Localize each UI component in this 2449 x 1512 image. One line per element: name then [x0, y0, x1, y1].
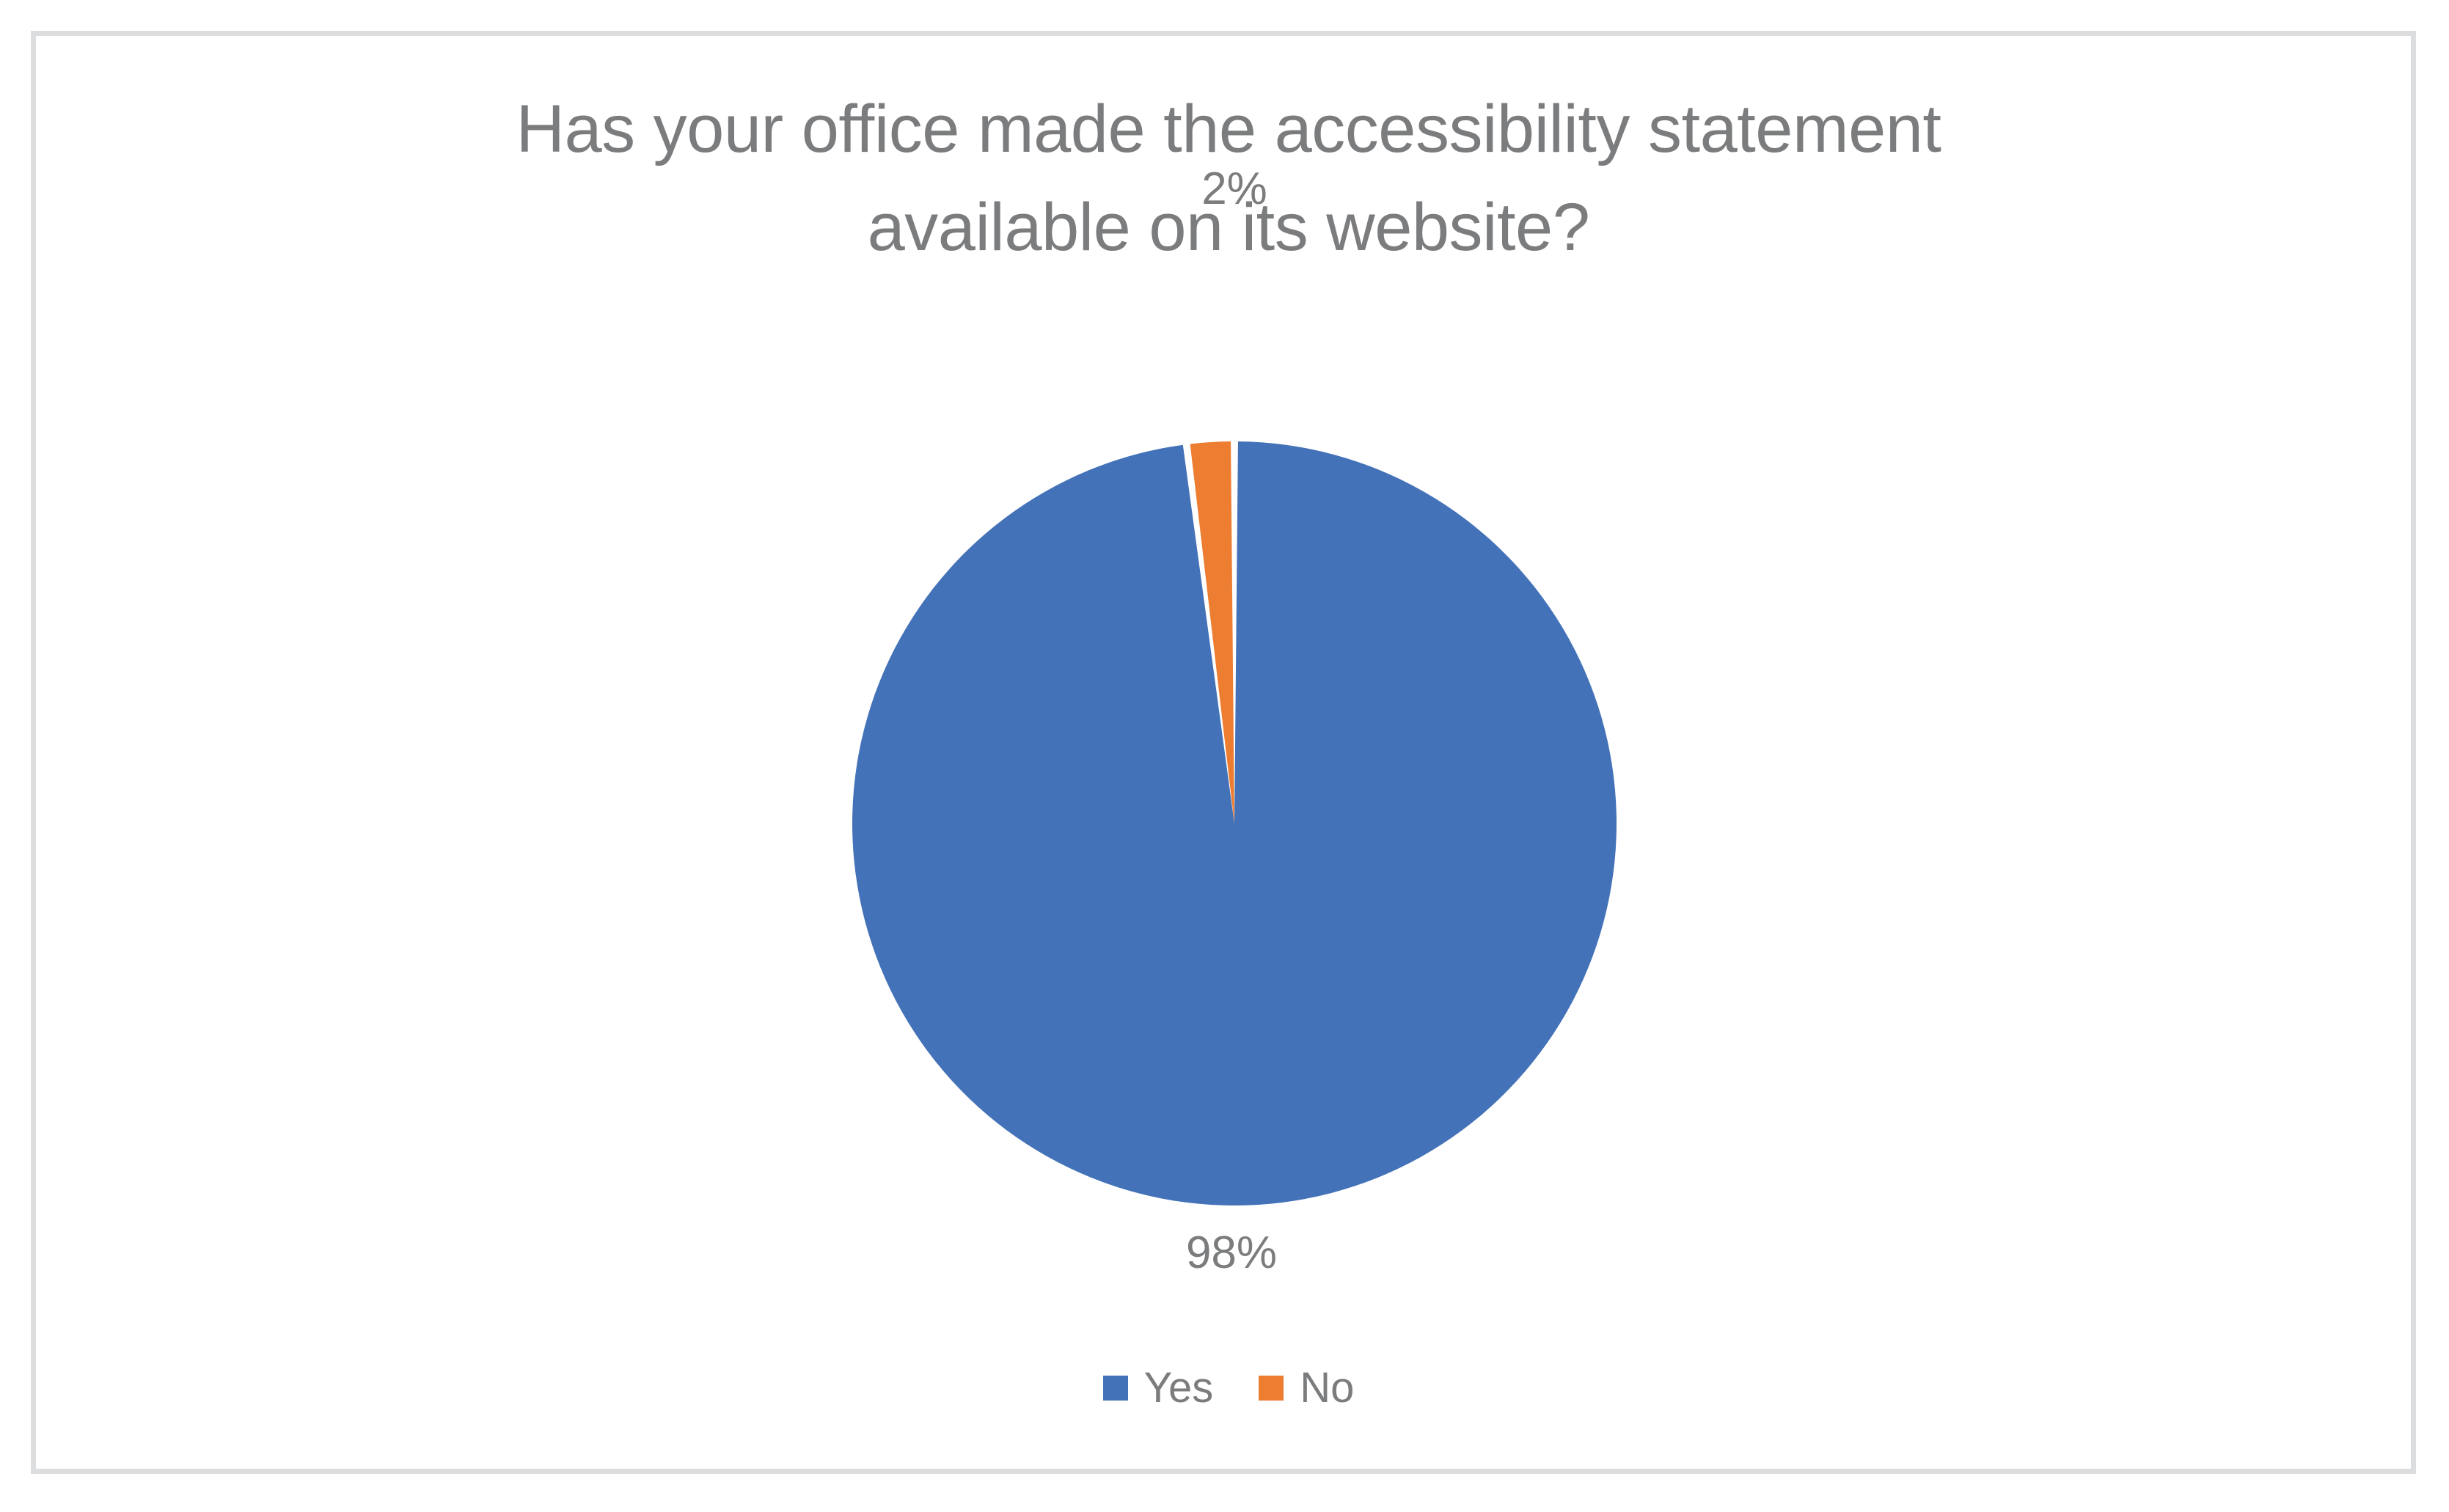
legend-item-no[interactable]: No [1259, 1367, 1354, 1409]
pie-slice-yes[interactable] [852, 441, 1617, 1205]
chart-legend: Yes No [36, 1367, 2421, 1409]
legend-swatch-no-icon [1259, 1376, 1284, 1401]
legend-label-yes: Yes [1144, 1367, 1214, 1409]
pie-slices-generated [852, 441, 1617, 1205]
legend-swatch-yes-icon [1103, 1376, 1128, 1401]
legend-item-yes[interactable]: Yes [1103, 1367, 1214, 1409]
data-label-no: 2% [1088, 166, 1381, 212]
plot-area: 2% 98% Yes No [36, 36, 2421, 1479]
screenshot-root: Has your office made the accessibility s… [0, 0, 2449, 1512]
data-label-yes: 98% [1085, 1230, 1378, 1276]
pie-chart-graphic[interactable] [820, 409, 1649, 1238]
chart-frame: Has your office made the accessibility s… [31, 31, 2416, 1474]
legend-label-no: No [1300, 1367, 1354, 1409]
